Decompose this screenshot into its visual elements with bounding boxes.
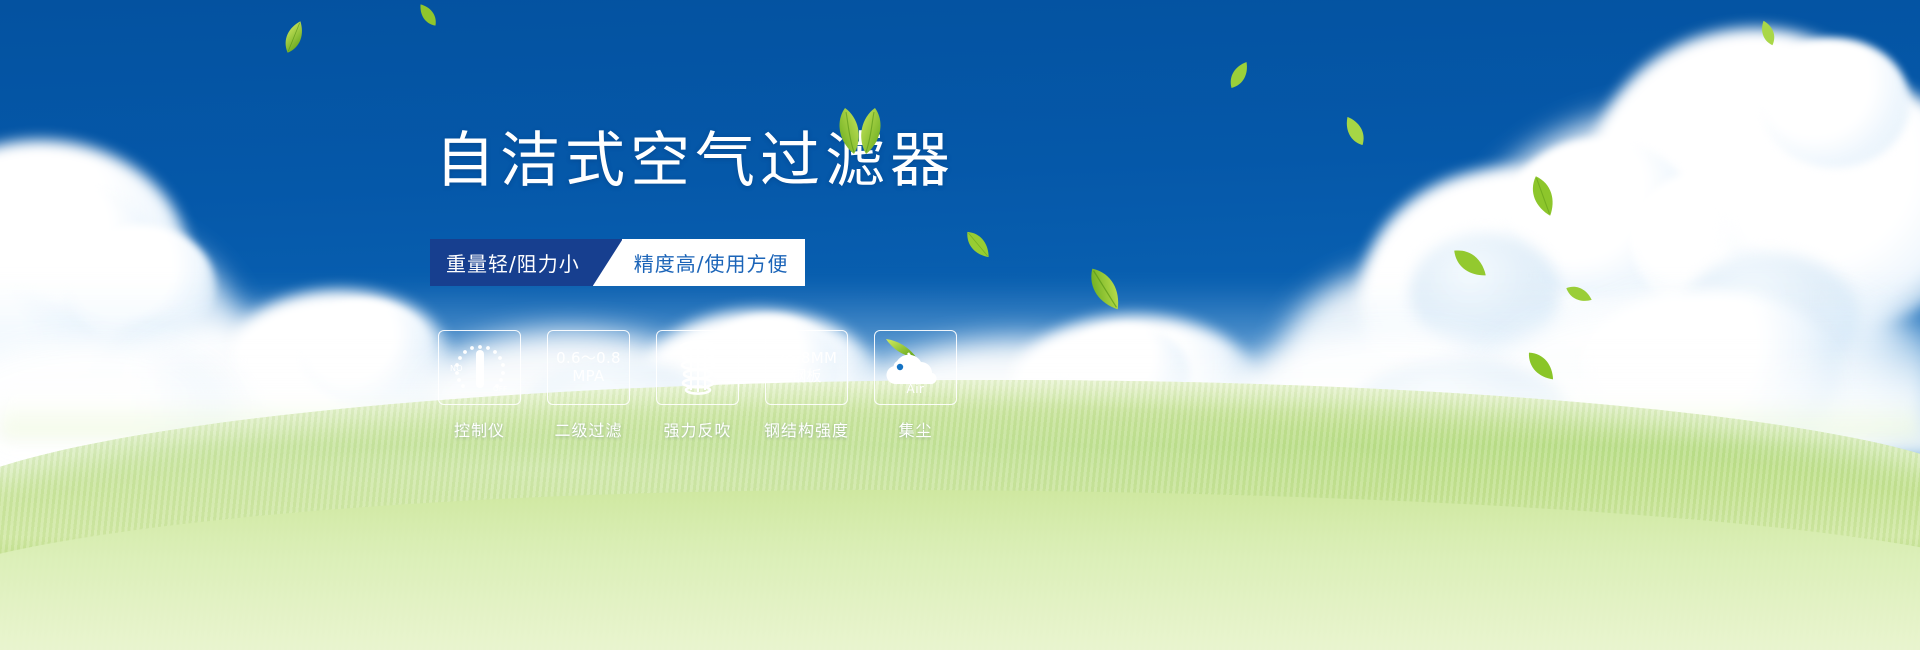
hero-banner: 自洁式空气过滤器 重量轻/阻力小 精度高/使用方便	[0, 0, 1920, 650]
feature-label: 钢结构强度	[764, 417, 849, 441]
steel-thickness: 3〜8MM	[776, 350, 837, 368]
gauge-max-label: OFF	[493, 385, 507, 393]
feature-icon-row: NO OFF 控制仪 0.6〜0.8 MPA 二级过滤	[438, 330, 957, 441]
steel-plate-text-icon: 3〜8MM 钢板	[765, 330, 848, 405]
tagline-badge-left: 重量轻/阻力小	[430, 239, 622, 286]
pressure-unit: MPA	[572, 368, 604, 386]
gauge-dial-icon: NO OFF	[438, 330, 521, 405]
tagline-badge: 重量轻/阻力小 精度高/使用方便	[430, 239, 805, 286]
feature-label: 集尘	[898, 417, 932, 441]
banner-content: 自洁式空气过滤器 重量轻/阻力小 精度高/使用方便	[0, 0, 1920, 650]
feature-item-two-stage-filter[interactable]: 0.6〜0.8 MPA 二级过滤	[547, 330, 630, 441]
steel-material: 钢板	[791, 368, 822, 386]
feature-item-dust-collection[interactable]: Air 集尘	[874, 330, 957, 441]
pressure-value: 0.6〜0.8	[556, 350, 621, 368]
air-label: Air	[875, 382, 956, 396]
feature-item-steel-strength[interactable]: 3〜8MM 钢板 钢结构强度	[765, 330, 848, 441]
tagline-badge-right: 精度高/使用方便	[622, 239, 805, 286]
feature-item-backblow[interactable]: 强力反吹	[656, 330, 739, 441]
gauge-min-label: NO	[450, 364, 463, 373]
feature-item-controller[interactable]: NO OFF 控制仪	[438, 330, 521, 441]
feature-label: 强力反吹	[663, 417, 731, 441]
pressure-text-icon: 0.6〜0.8 MPA	[547, 330, 630, 405]
leaf-pair-icon	[829, 108, 891, 154]
tagline-right-text: 精度高/使用方便	[634, 248, 789, 277]
coil-stack-icon	[656, 330, 739, 405]
feature-label: 二级过滤	[554, 417, 622, 441]
tagline-left-text: 重量轻/阻力小	[446, 248, 580, 277]
feature-label: 控制仪	[454, 417, 505, 441]
cloud-air-icon: Air	[874, 330, 957, 405]
